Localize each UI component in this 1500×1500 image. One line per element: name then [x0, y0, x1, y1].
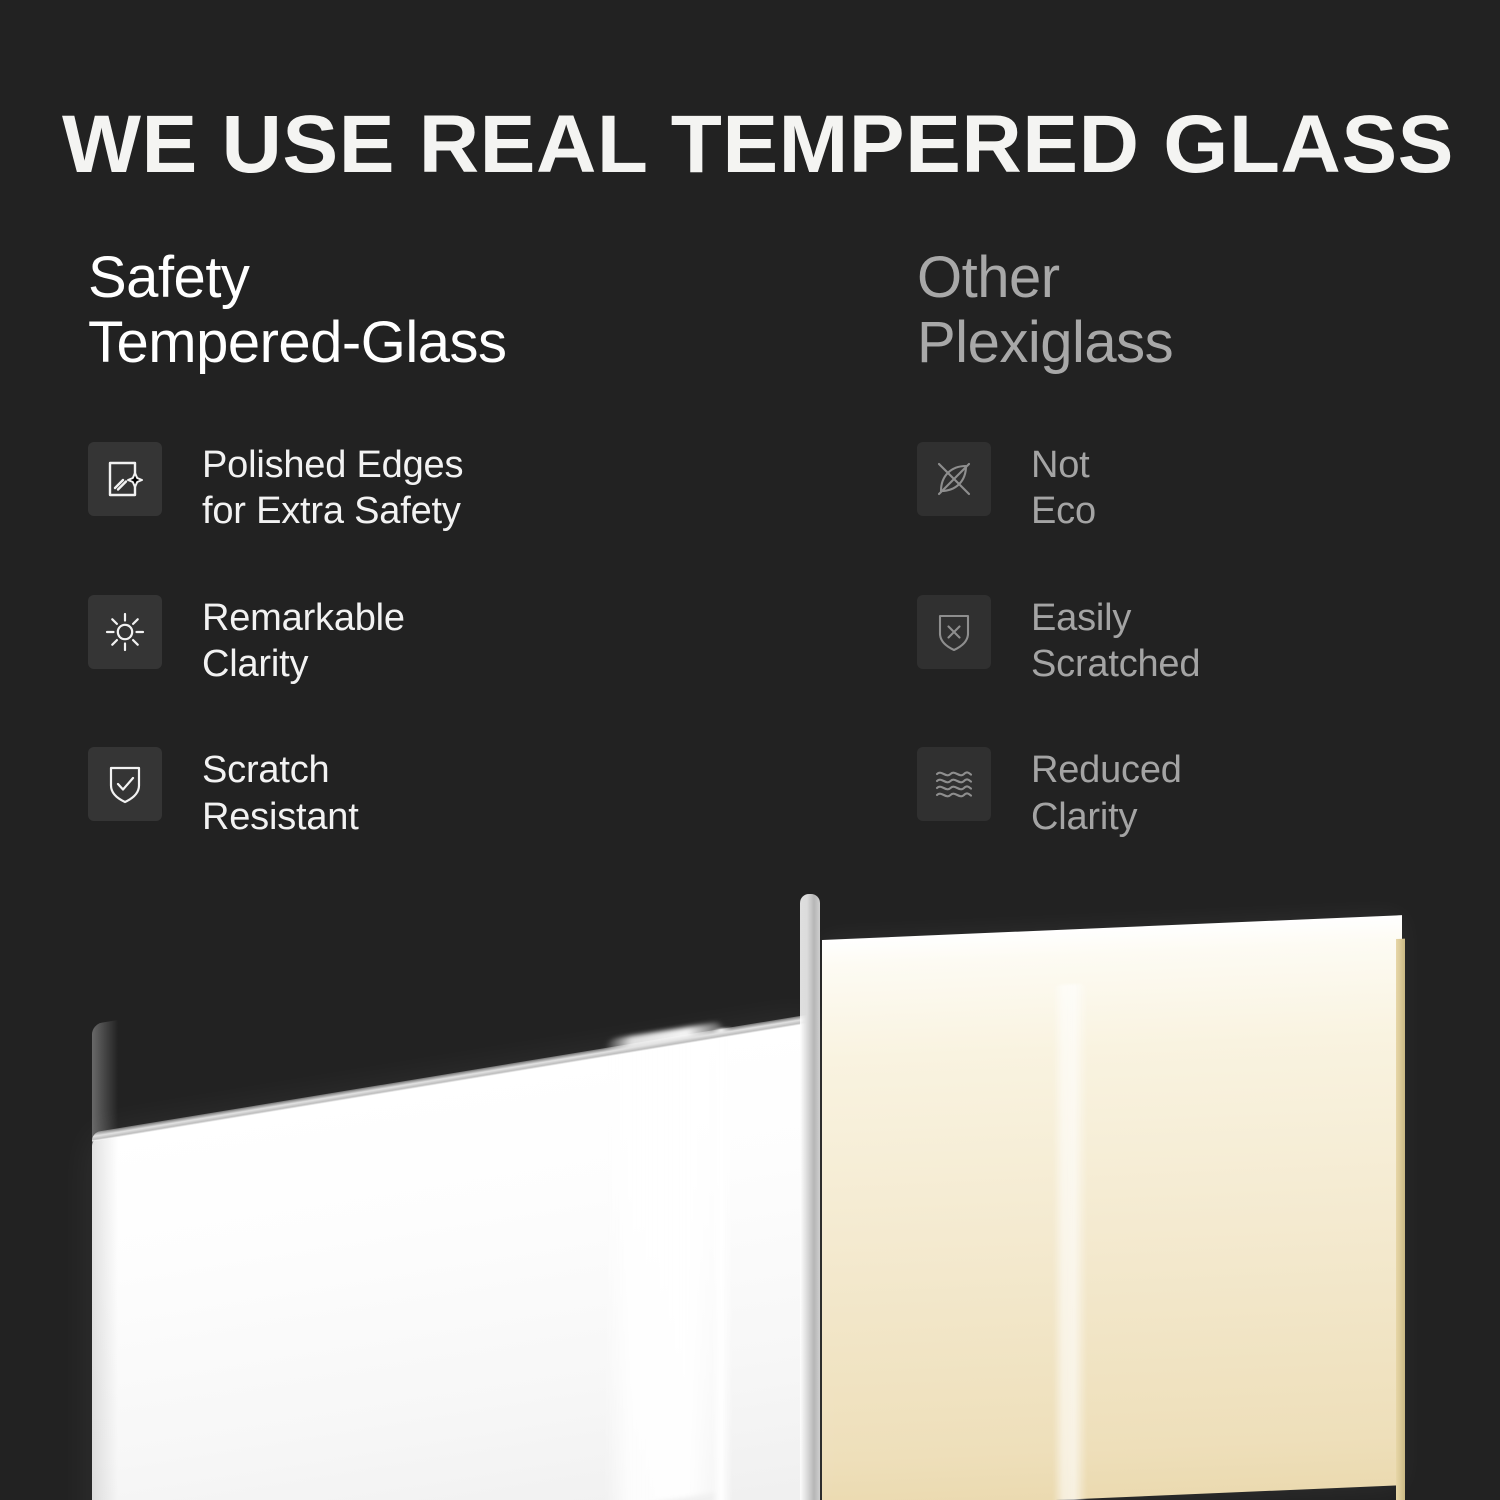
- column-plexiglass: Other Plexiglass Not Eco: [917, 246, 1477, 840]
- feature-remarkable-clarity: Remarkable Clarity: [88, 593, 788, 688]
- feature-label: Scratch Resistant: [202, 745, 359, 840]
- leaf-slash-icon: [917, 442, 991, 516]
- shield-check-icon: [88, 747, 162, 821]
- column-tempered-glass: Safety Tempered-Glass Polished Edges for…: [88, 246, 788, 840]
- tempered-glass-panel-glint: [712, 1027, 732, 1500]
- sun-brightness-icon: [88, 595, 162, 669]
- feature-easily-scratched: Easily Scratched: [917, 593, 1477, 688]
- feature-not-eco: Not Eco: [917, 440, 1477, 535]
- feature-polished-edges: Polished Edges for Extra Safety: [88, 440, 788, 535]
- feature-label: Remarkable Clarity: [202, 593, 405, 688]
- glass-sparkle-icon: [88, 442, 162, 516]
- tempered-glass-panel-left-shade: [92, 1020, 118, 1500]
- feature-label: Polished Edges for Extra Safety: [202, 440, 463, 535]
- shield-x-icon: [917, 595, 991, 669]
- tempered-glass-panel-right-bevel: [800, 894, 820, 1500]
- column-title-plexiglass: Other Plexiglass: [917, 246, 1477, 376]
- tempered-glass-panel-reflection: [605, 1021, 723, 1500]
- plexiglass-panel-reflection: [1053, 984, 1087, 1500]
- page-title: WE USE REAL TEMPERED GLASS: [62, 97, 1480, 193]
- feature-reduced-clarity: Reduced Clarity: [917, 745, 1477, 840]
- plexiglass-panel: [822, 915, 1402, 1500]
- feature-list-tempered-glass: Polished Edges for Extra Safety Remarkab…: [88, 440, 788, 840]
- comparison-infographic: WE USE REAL TEMPERED GLASS Safety Temper…: [0, 0, 1500, 1500]
- feature-label: Easily Scratched: [1031, 593, 1200, 688]
- feature-list-plexiglass: Not Eco Easily Scratched: [917, 440, 1477, 840]
- feature-label: Reduced Clarity: [1031, 745, 1182, 840]
- feature-scratch-resistant: Scratch Resistant: [88, 745, 788, 840]
- wavy-lines-icon: [917, 747, 991, 821]
- feature-label: Not Eco: [1031, 440, 1096, 535]
- column-title-tempered-glass: Safety Tempered-Glass: [88, 246, 788, 376]
- product-panels-image: [0, 880, 1500, 1500]
- plexiglass-panel-edge: [1396, 939, 1405, 1500]
